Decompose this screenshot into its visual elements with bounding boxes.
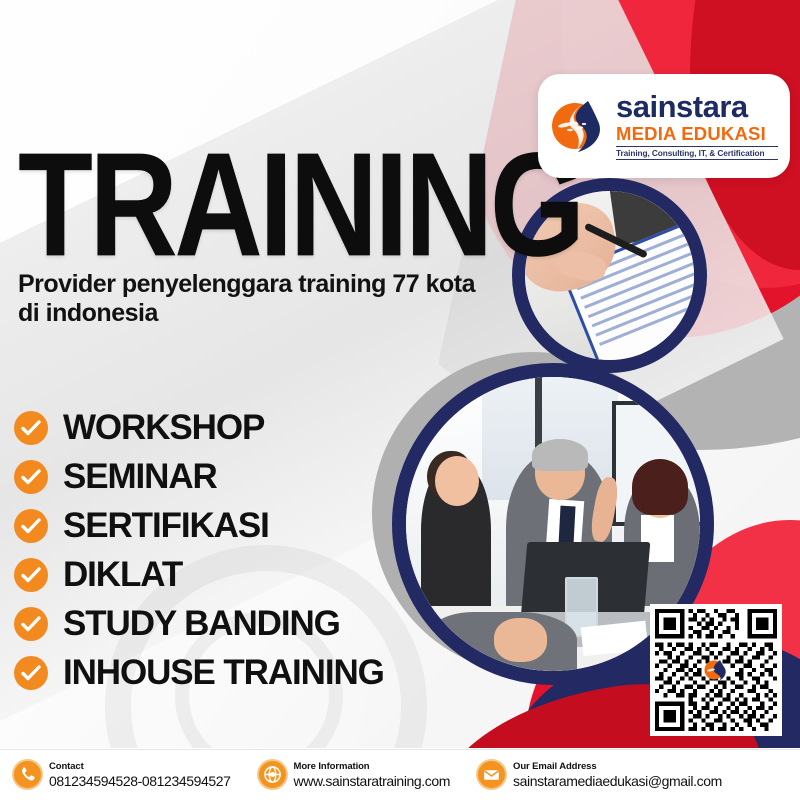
- service-list: WORKSHOP SEMINAR SERTIFIKASI DIKLAT STUD…: [14, 410, 384, 690]
- footer-email-value: sainstaramediaedukasi@gmail.com: [513, 773, 722, 789]
- footer-divider: [0, 749, 800, 750]
- qr-canvas: [655, 609, 777, 731]
- check-circle-icon: [14, 607, 48, 641]
- training-promo-poster: sainstara MEDIA EDUKASI Training, Consul…: [0, 0, 800, 800]
- person-foreground-hand: [494, 618, 547, 662]
- brand-logo-text: sainstara MEDIA EDUKASI Training, Consul…: [616, 92, 778, 160]
- list-item: INHOUSE TRAINING: [14, 655, 384, 690]
- check-circle-icon: [14, 656, 48, 690]
- footer-email-item[interactable]: Our Email Address sainstaramediaedukasi@…: [478, 757, 722, 791]
- contact-footer: Contact 081234594528-081234594527 More I…: [0, 748, 800, 800]
- brand-tagline: Training, Consulting, IT, & Certificatio…: [616, 146, 778, 160]
- list-item: SERTIFIKASI: [14, 508, 384, 543]
- list-item: STUDY BANDING: [14, 606, 384, 641]
- list-item: SEMINAR: [14, 459, 384, 494]
- list-item-label: INHOUSE TRAINING: [63, 655, 384, 690]
- phone-icon: [14, 761, 41, 788]
- footer-website-value: www.sainstaratraining.com: [294, 773, 451, 789]
- check-circle-icon: [14, 460, 48, 494]
- footer-contact-label: Contact: [49, 761, 84, 772]
- list-item: DIKLAT: [14, 557, 384, 592]
- envelope-icon: [478, 761, 505, 788]
- list-item-label: DIKLAT: [63, 557, 182, 592]
- footer-website-label: More Information: [294, 761, 370, 772]
- list-item-label: SEMINAR: [63, 459, 217, 494]
- list-item-label: STUDY BANDING: [63, 606, 340, 641]
- footer-contact-value: 081234594528-081234594527: [49, 773, 231, 789]
- brand-logo-badge: sainstara MEDIA EDUKASI Training, Consul…: [538, 74, 790, 178]
- check-circle-icon: [14, 411, 48, 445]
- footer-website-item[interactable]: More Information www.sainstaratraining.c…: [259, 757, 451, 791]
- person-center-hair: [532, 439, 588, 471]
- footer-contact-item[interactable]: Contact 081234594528-081234594527: [14, 757, 231, 791]
- list-item-label: WORKSHOP: [63, 410, 264, 445]
- flame-indonesia-map-icon: [548, 95, 610, 157]
- brand-subtitle: MEDIA EDUKASI: [616, 123, 778, 144]
- list-item-label: SERTIFIKASI: [63, 508, 269, 543]
- globe-icon: [259, 761, 286, 788]
- check-circle-icon: [14, 558, 48, 592]
- brand-name: sainstara: [616, 92, 778, 122]
- list-item: WORKSHOP: [14, 410, 384, 445]
- footer-email-label: Our Email Address: [513, 761, 596, 772]
- check-circle-icon: [14, 509, 48, 543]
- person-right-hair: [632, 459, 688, 515]
- headline-block: TRAINING Provider penyelenggara training…: [18, 140, 624, 327]
- qr-code-with-brand-logo[interactable]: [650, 604, 782, 736]
- page-title: TRAINING: [18, 140, 582, 270]
- qr-center-logo-icon: [703, 657, 729, 683]
